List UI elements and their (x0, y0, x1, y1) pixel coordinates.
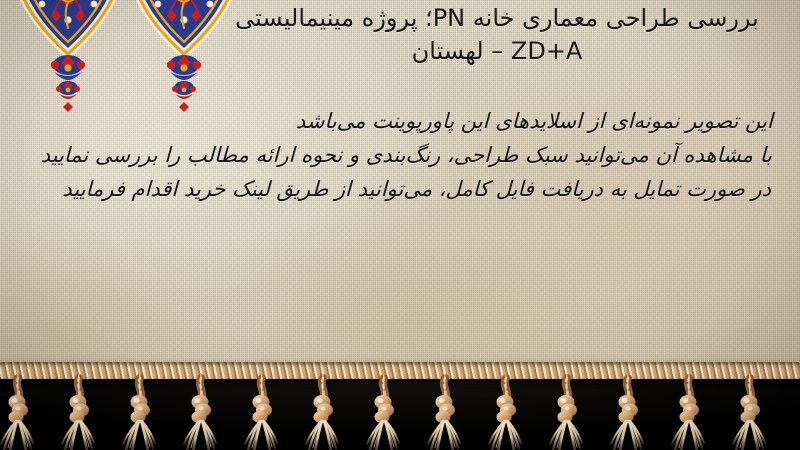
slide-body-line-2: با مشاهده آن می‌توانید سبک طراحی، رنگ‌بن… (28, 138, 773, 172)
presentation-slide: بررسی طراحی معماری خانه PN؛ پروژه مینیما… (0, 0, 800, 450)
slide-title-line-2: ZD+A – لهستان (212, 35, 782, 68)
slide-body-line-1: این تصویر نمونه‌ای از اسلایدهای این پاور… (28, 104, 773, 138)
black-bottom-band (0, 372, 800, 450)
slide-title: بررسی طراحی معماری خانه PN؛ پروژه مینیما… (212, 2, 782, 68)
carpet-fringe-tassels-icon (0, 372, 800, 450)
slide-title-line-1: بررسی طراحی معماری خانه PN؛ پروژه مینیما… (235, 4, 759, 32)
slide-text-area: بررسی طراحی معماری خانه PN؛ پروژه مینیما… (0, 0, 800, 378)
slide-body-line-3: در صورت تمایل به دریافت فایل کامل، می‌تو… (27, 172, 772, 206)
slide-body-text: این تصویر نمونه‌ای از اسلایدهای این پاور… (27, 104, 774, 206)
